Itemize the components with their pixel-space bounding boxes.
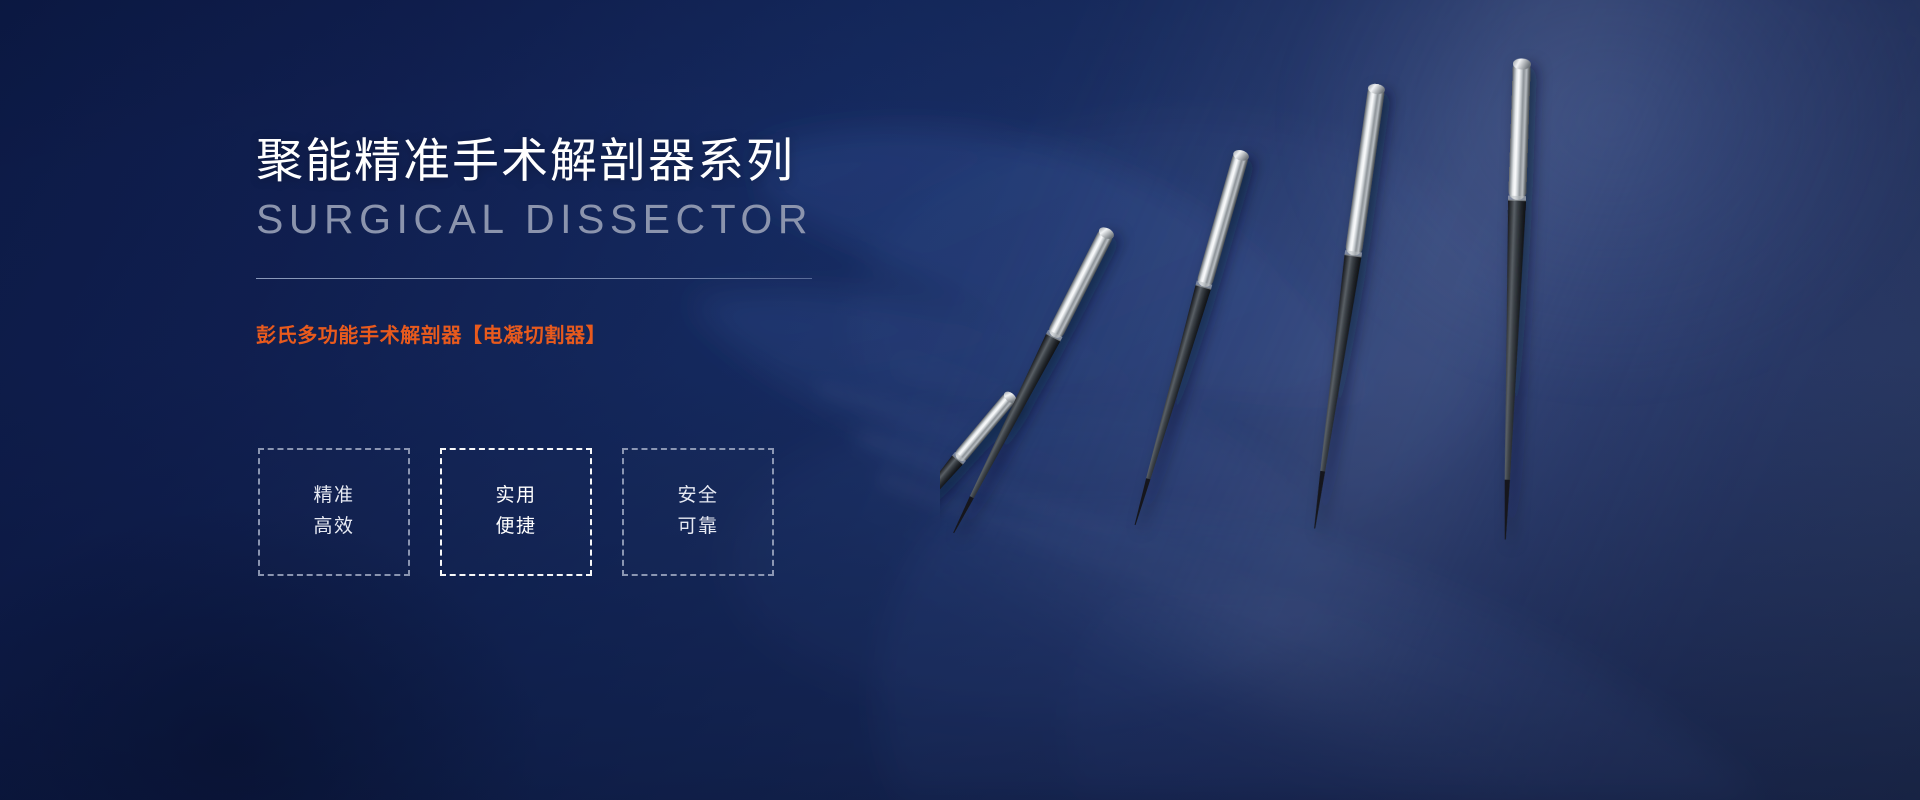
background-vignette xyxy=(0,0,1920,800)
feature-box-3-line2: 可靠 xyxy=(677,512,718,543)
feature-box-group: 精准 高效 实用 便捷 安全 可靠 xyxy=(258,448,774,576)
page-subtitle-en: SURGICAL DISSECTOR xyxy=(256,195,956,243)
feature-box-3-line1: 安全 xyxy=(677,481,718,512)
banner-copy: 聚能精准手术解剖器系列 SURGICAL DISSECTOR 彭氏多功能手术解剖… xyxy=(256,132,956,348)
feature-box-2-line1: 实用 xyxy=(495,481,536,512)
title-divider xyxy=(256,278,812,279)
feature-box-3[interactable]: 安全 可靠 xyxy=(622,448,774,576)
feature-box-1-line2: 高效 xyxy=(313,512,354,543)
product-name: 彭氏多功能手术解剖器【电凝切割器】 xyxy=(256,319,956,348)
feature-box-1[interactable]: 精准 高效 xyxy=(258,448,410,576)
feature-box-2-line2: 便捷 xyxy=(495,512,536,543)
product-banner: 聚能精准手术解剖器系列 SURGICAL DISSECTOR 彭氏多功能手术解剖… xyxy=(0,0,1920,800)
page-title: 聚能精准手术解剖器系列 xyxy=(256,132,956,189)
feature-box-2[interactable]: 实用 便捷 xyxy=(440,448,592,576)
feature-box-1-line1: 精准 xyxy=(313,481,354,512)
